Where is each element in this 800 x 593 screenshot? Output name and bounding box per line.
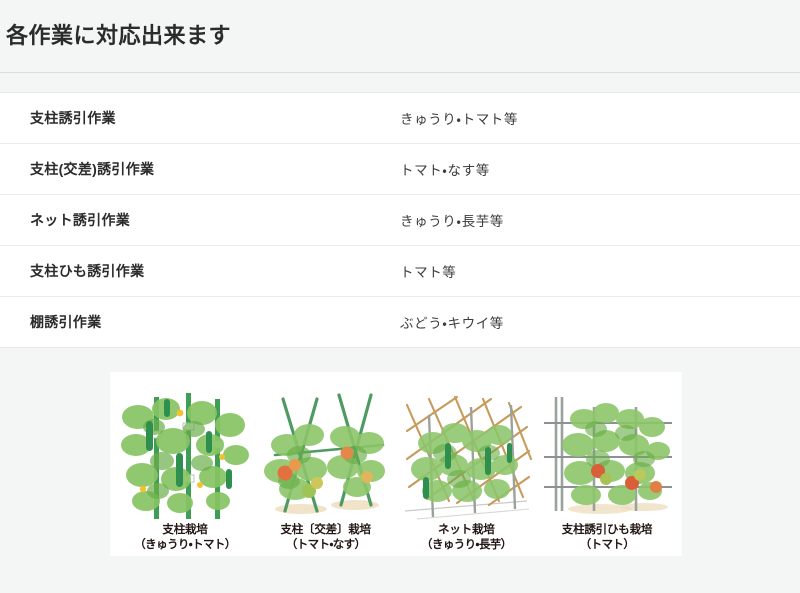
figure-caption-sub: （トマト） xyxy=(562,538,652,552)
string-wire-tomato-illustration xyxy=(540,383,674,523)
cucumber-stake-illustration xyxy=(118,383,252,523)
figure-caption-sub: （きゅうり・トマト） xyxy=(134,538,235,552)
figure-item: 支柱〔交差〕栽培 （トマト・なす） xyxy=(257,383,395,556)
net-trellis-cucumber-illustration xyxy=(399,383,533,523)
spec-term: 支柱ひも誘引作業 xyxy=(0,261,400,281)
figure-caption: 支柱誘引ひも栽培 （トマト） xyxy=(562,523,652,556)
figure-caption-main: ネット栽培 xyxy=(438,524,495,536)
spec-description: きゅうり・長芋等 xyxy=(400,210,800,230)
table-row: 棚誘引作業 ぶどう・キウイ等 xyxy=(0,297,800,348)
page-header: 各作業に対応出来ます xyxy=(0,0,800,73)
figure-item: ネット栽培 （きゅうり・長芋） xyxy=(397,383,535,556)
spec-term: 棚誘引作業 xyxy=(0,312,400,332)
figure-caption-sub: （きゅうり・長芋） xyxy=(421,538,512,552)
figure-caption-main: 支柱誘引ひも栽培 xyxy=(562,524,652,536)
page-title: 各作業に対応出来ます xyxy=(6,23,231,49)
figure-caption-main: 支柱栽培 xyxy=(162,524,207,536)
figure-item: 支柱誘引ひも栽培 （トマト） xyxy=(538,383,676,556)
spec-table: 支柱誘引作業 きゅうり・トマト等 支柱(交差)誘引作業 トマト・なす等 ネット誘… xyxy=(0,92,800,348)
figure-caption-main: 支柱〔交差〕栽培 xyxy=(280,524,370,536)
crossed-stake-tomato-illustration xyxy=(259,383,393,523)
illustration-panel: 支柱栽培 （きゅうり・トマト） xyxy=(110,372,682,556)
figure-caption: ネット栽培 （きゅうり・長芋） xyxy=(421,523,512,556)
figure-caption-sub: （トマト・なす） xyxy=(280,538,370,552)
table-row: ネット誘引作業 きゅうり・長芋等 xyxy=(0,195,800,246)
figure-caption: 支柱〔交差〕栽培 （トマト・なす） xyxy=(280,523,370,556)
table-row: 支柱ひも誘引作業 トマト等 xyxy=(0,246,800,297)
table-row: 支柱(交差)誘引作業 トマト・なす等 xyxy=(0,144,800,195)
figure-caption: 支柱栽培 （きゅうり・トマト） xyxy=(134,523,235,556)
figure-item: 支柱栽培 （きゅうり・トマト） xyxy=(116,383,254,556)
spec-description: トマト・なす等 xyxy=(400,159,800,179)
table-row: 支柱誘引作業 きゅうり・トマト等 xyxy=(0,93,800,144)
spec-description: トマト等 xyxy=(400,261,800,281)
spec-term: ネット誘引作業 xyxy=(0,210,400,230)
spec-term: 支柱(交差)誘引作業 xyxy=(0,159,400,179)
spec-description: きゅうり・トマト等 xyxy=(400,108,800,128)
spec-term: 支柱誘引作業 xyxy=(0,108,400,128)
spec-description: ぶどう・キウイ等 xyxy=(400,312,800,332)
